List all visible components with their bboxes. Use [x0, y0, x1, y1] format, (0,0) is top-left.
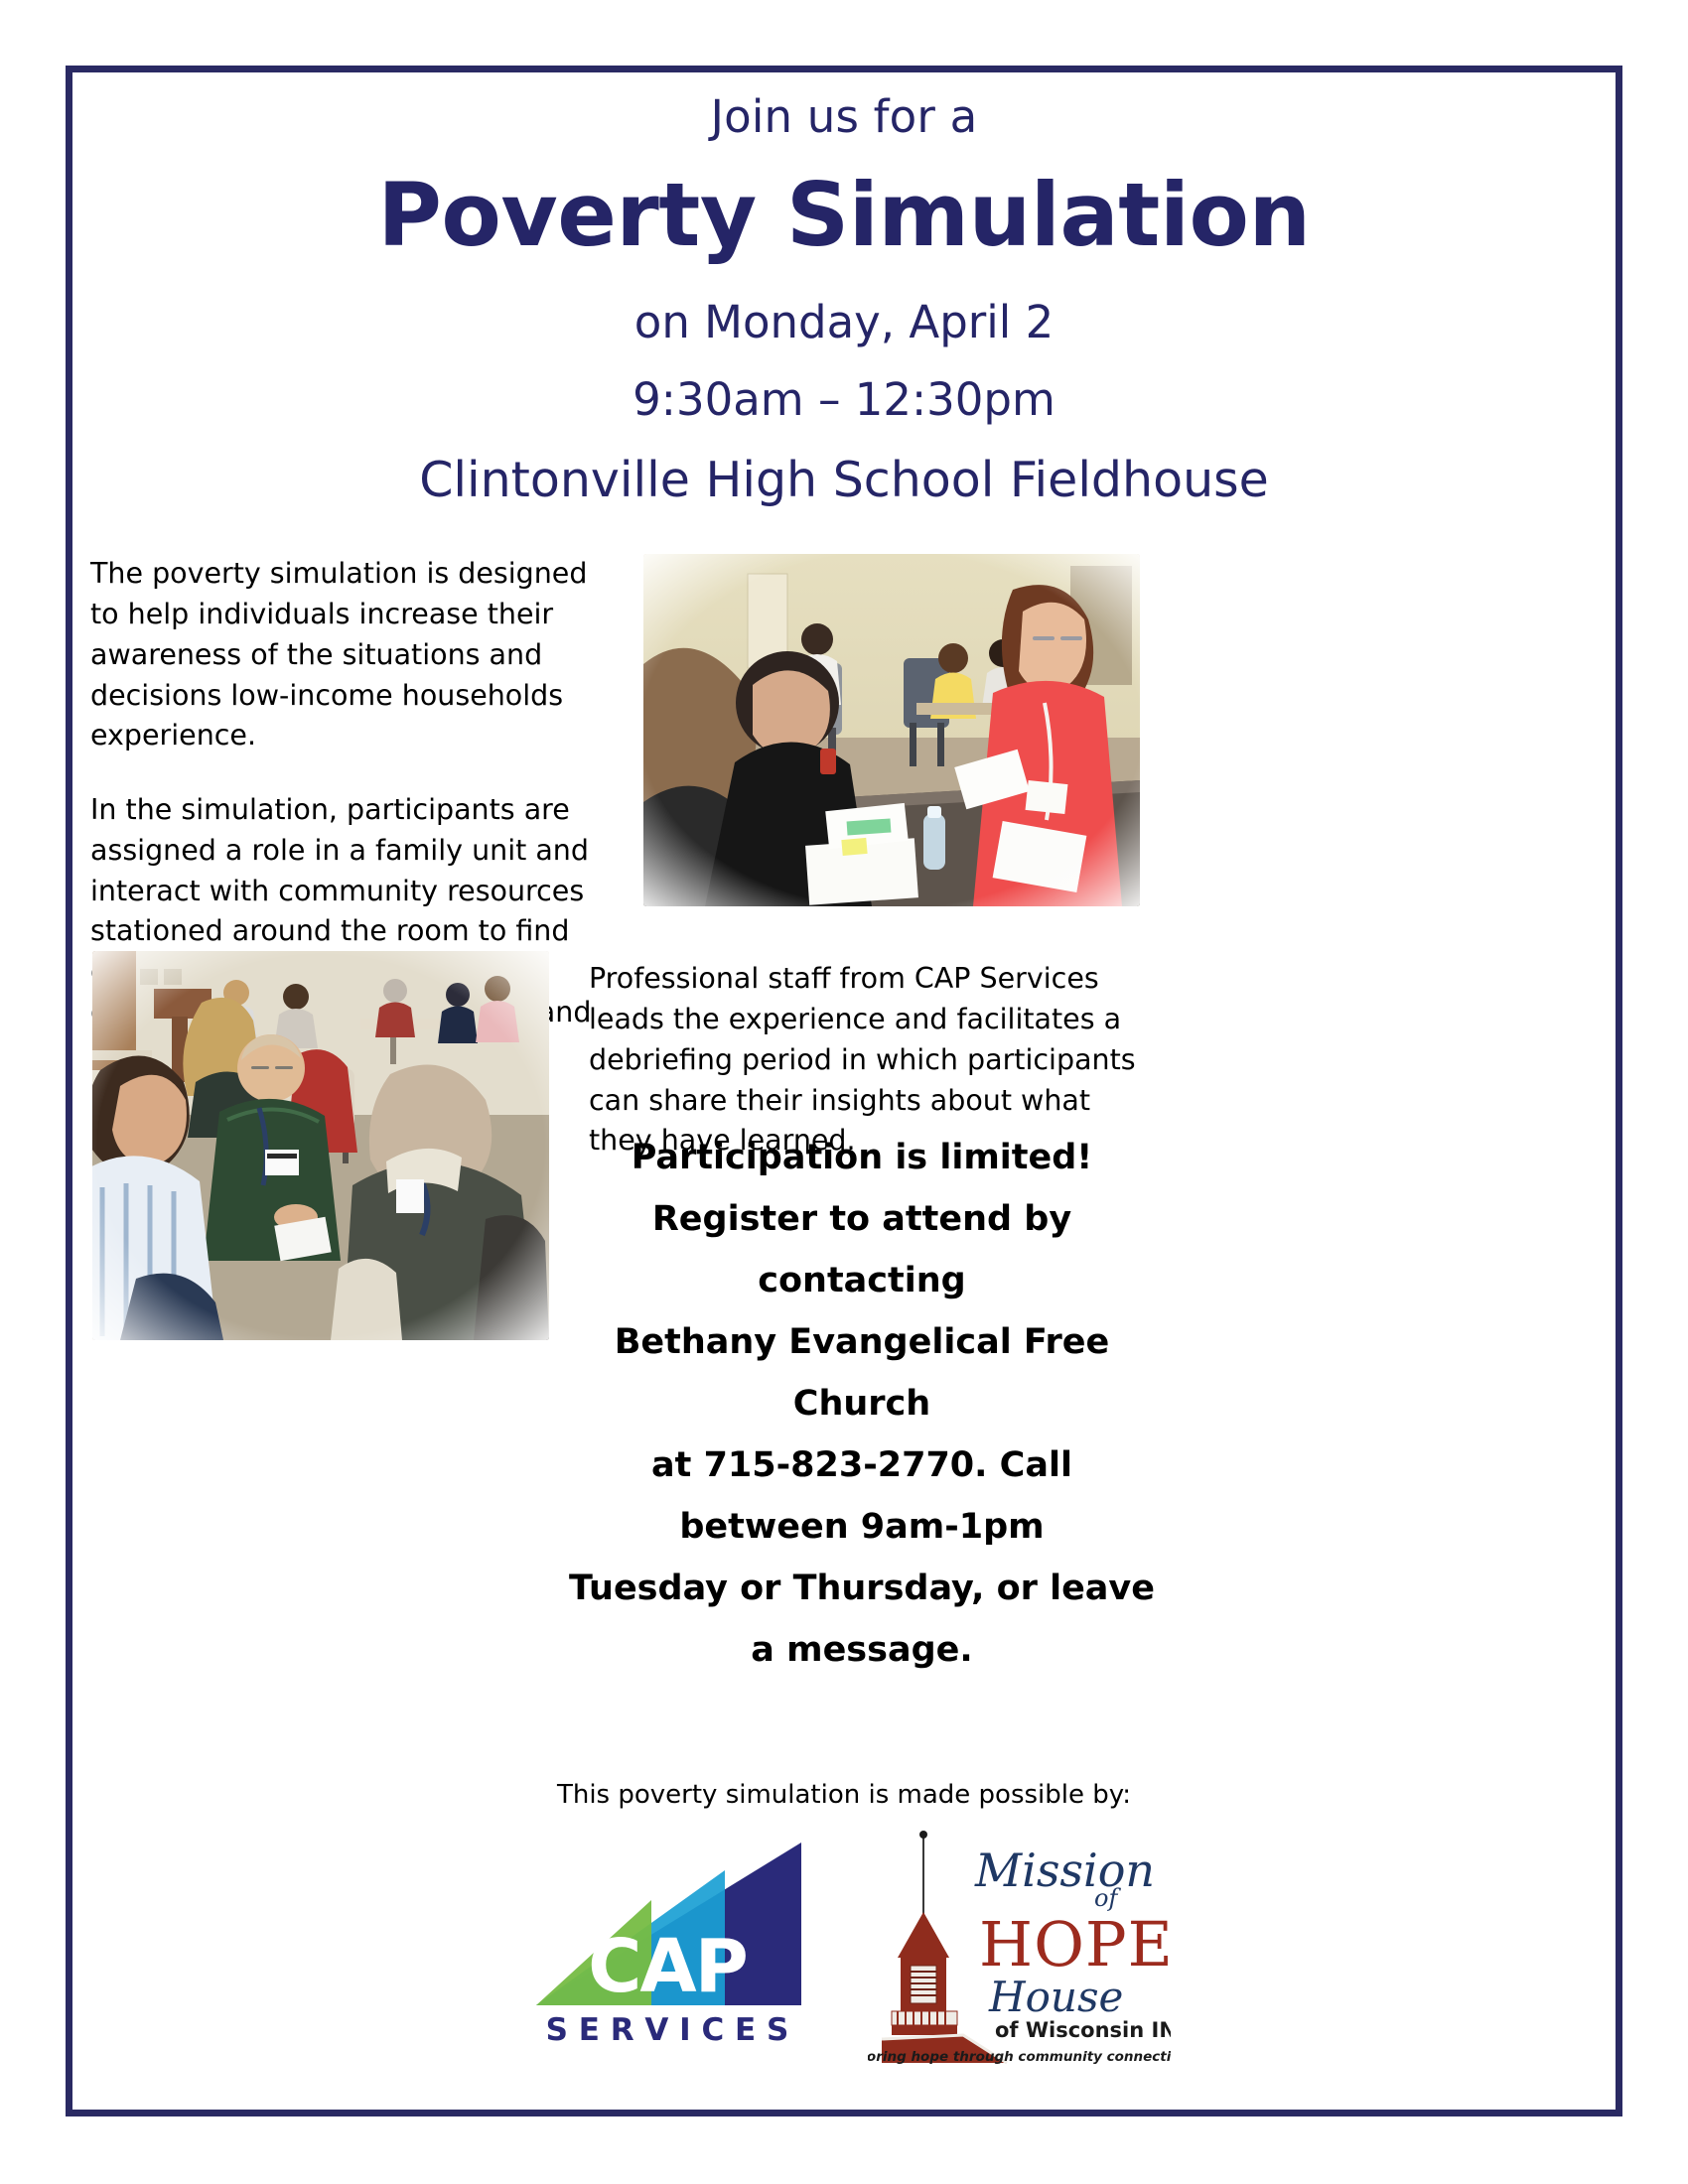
cta-line-days: Tuesday or Thursday, or leave a message.: [569, 1559, 1155, 1682]
mission-of-hope-house-logo: Mission of HOPE House of Wisconsin INC. …: [868, 1827, 1171, 2065]
hope-house-logo-mark: Mission of HOPE House of Wisconsin INC. …: [868, 1827, 1171, 2065]
cap-services-subtitle: S E R V I C E S: [545, 2012, 788, 2048]
hope-tagline: Restoring hope through community connect…: [868, 2049, 1171, 2065]
hope-wordmark: HOPE: [979, 1908, 1171, 1980]
event-time: 9:30am – 12:30pm: [72, 373, 1616, 426]
sponsor-logos: CAP S E R V I C E S: [72, 1827, 1616, 2065]
sponsor-intro-line: This poverty simulation is made possible…: [72, 1780, 1616, 1810]
photo-simulation-table: [643, 554, 1140, 906]
cap-wordmark: CAP: [588, 1924, 747, 2009]
photo-group-discussion: [92, 951, 549, 1340]
hope-state-line: of Wisconsin INC.: [995, 2018, 1171, 2042]
flyer-header: Join us for a Poverty Simulation on Mond…: [72, 72, 1616, 508]
cta-line-phone: at 715-823-2770. Call between 9am-1pm: [569, 1435, 1155, 1559]
photo-top-illustration: [643, 554, 1140, 906]
cta-line-limited: Participation is limited!: [569, 1128, 1155, 1189]
cta-line-register: Register to attend by contacting: [569, 1189, 1155, 1312]
hope-script-house: House: [988, 1973, 1123, 2021]
cta-line-church: Bethany Evangelical Free Church: [569, 1312, 1155, 1435]
call-to-action-block: Participation is limited! Register to at…: [569, 1128, 1155, 1681]
photo-bottom-illustration: [92, 951, 549, 1340]
paragraph-one: The poverty simulation is designed to he…: [90, 554, 607, 756]
page-title: Poverty Simulation: [72, 159, 1616, 272]
cap-services-logo: CAP S E R V I C E S: [518, 1827, 816, 2050]
join-us-line: Join us for a: [72, 90, 1616, 143]
flyer-page: Join us for a Poverty Simulation on Mond…: [66, 66, 1622, 2116]
hope-script-mission: Mission: [974, 1843, 1155, 1897]
event-venue: Clintonville High School Fieldhouse: [72, 452, 1616, 509]
cap-services-logo-mark: CAP S E R V I C E S: [518, 1827, 816, 2050]
flyer-content: Join us for a Poverty Simulation on Mond…: [72, 72, 1616, 2110]
event-date: on Monday, April 2: [72, 296, 1616, 348]
